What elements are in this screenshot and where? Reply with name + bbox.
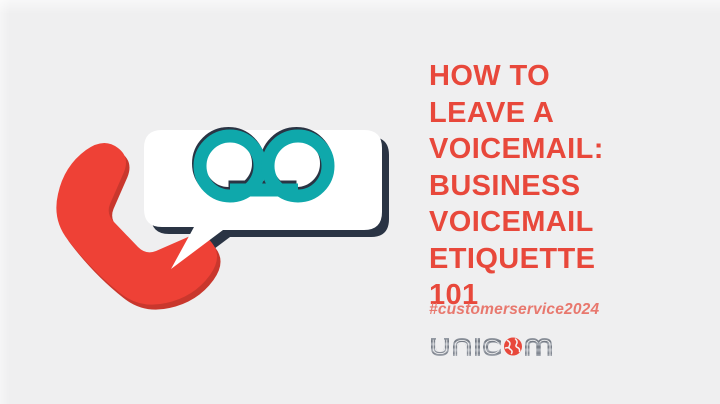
logo-letter-c [483,338,501,356]
text-column: HOW TO LEAVE A VOICEMAIL: BUSINESS VOICE… [429,58,695,314]
logo-letter-u [431,338,449,356]
logo-letter-m [525,338,552,356]
logo-globe-icon [504,338,522,356]
hashtag-label: #customerservice2024 [429,301,599,319]
logo-letter-n [453,338,471,356]
unicom-logo: unicom [429,332,547,358]
page-title: HOW TO LEAVE A VOICEMAIL: BUSINESS VOICE… [429,58,695,314]
graphic-canvas: HOW TO LEAVE A VOICEMAIL: BUSINESS VOICE… [0,0,720,404]
illustration-phone-voicemail [34,108,406,362]
logo-letter-i [475,338,480,356]
